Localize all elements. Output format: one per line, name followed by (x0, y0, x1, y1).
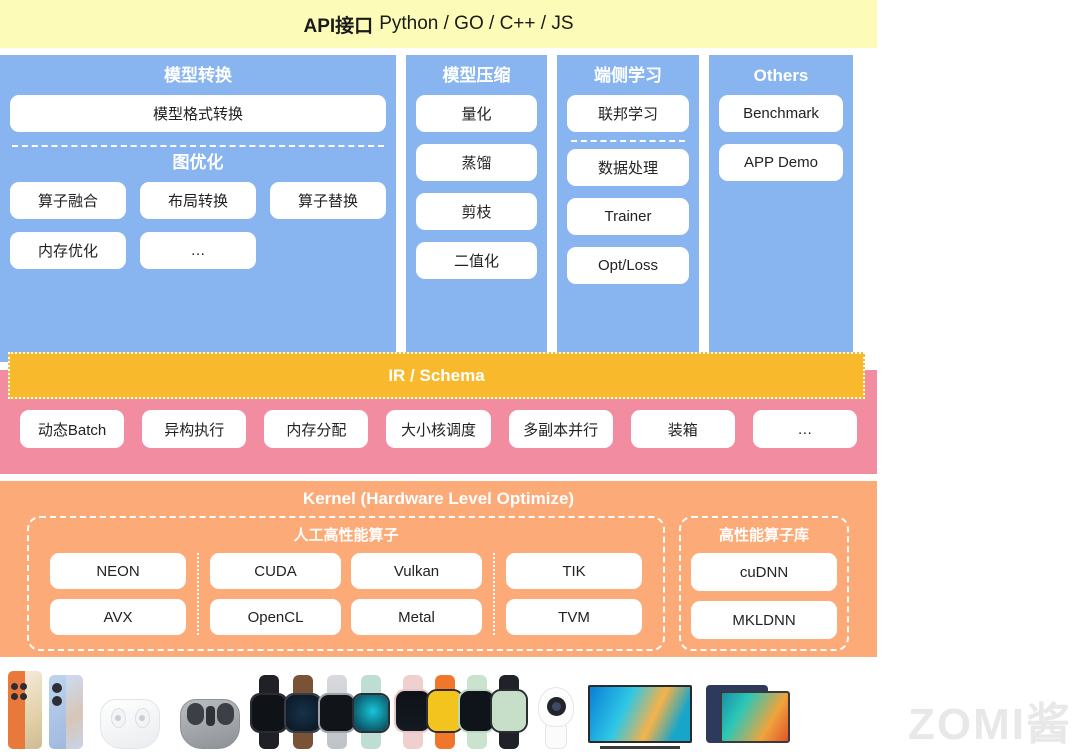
card-trainer[interactable]: Trainer (567, 198, 689, 235)
card-memory-optimize[interactable]: 内存优化 (10, 232, 126, 269)
device-phone-p-blue (49, 675, 83, 749)
high-perf-operator-library-box: 高性能算子库 cuDNN MKLDNN (679, 516, 849, 651)
kernel-group-compiler: TIK TVM (495, 553, 653, 635)
device-smart-tv (588, 685, 692, 749)
card-quantization[interactable]: 量化 (416, 95, 537, 132)
kernel-section: Kernel (Hardware Level Optimize) 人工高性能算子… (0, 481, 877, 657)
device-watch-gt-brown (284, 675, 322, 749)
device-camera-white (538, 687, 574, 749)
column-title-on-device-learning: 端侧学习 (567, 66, 689, 86)
column-model-compression: 模型压缩 量化 蒸馏 剪枝 二值化 (406, 55, 547, 362)
kernel-title: Kernel (Hardware Level Optimize) (0, 489, 877, 509)
card-neon[interactable]: NEON (50, 553, 186, 589)
column-title-model-compression: 模型压缩 (416, 66, 537, 86)
card-benchmark[interactable]: Benchmark (719, 95, 843, 132)
card-metal[interactable]: Metal (351, 599, 482, 635)
column-model-conversion: 模型转换 模型格式转换 图优化 算子融合 布局转换 算子替换 内存优化 … (0, 55, 396, 362)
card-tvm[interactable]: TVM (506, 599, 642, 635)
kernel-operator-groups: NEON AVX CUDA OpenCL Vulkan Metal (39, 553, 653, 635)
api-header-bar: API接口 Python / GO / C++ / JS (0, 0, 877, 48)
device-band-black (490, 675, 528, 749)
card-cudnn[interactable]: cuDNN (691, 553, 837, 591)
card-operator-fusion[interactable]: 算子融合 (10, 182, 126, 219)
card-multi-replica-parallel[interactable]: 多副本并行 (509, 410, 613, 448)
card-opencl[interactable]: OpenCL (210, 599, 341, 635)
column-others: Others Benchmark APP Demo (709, 55, 853, 362)
dashed-divider-on-device (571, 140, 685, 142)
column-title-others: Others (719, 66, 843, 86)
card-vulkan[interactable]: Vulkan (351, 553, 482, 589)
device-watch-gt-teal (352, 675, 390, 749)
card-more-graph-optimize[interactable]: … (140, 232, 256, 269)
api-header-zh-label: API接口 (304, 11, 374, 38)
frontend-blue-section: 模型转换 模型格式转换 图优化 算子融合 布局转换 算子替换 内存优化 … 模型… (0, 55, 877, 362)
card-distillation[interactable]: 蒸馏 (416, 144, 537, 181)
card-operator-replace[interactable]: 算子替换 (270, 182, 386, 219)
card-opt-loss[interactable]: Opt/Loss (567, 247, 689, 284)
card-federated-learning[interactable]: 联邦学习 (567, 95, 689, 132)
card-binarization[interactable]: 二值化 (416, 242, 537, 279)
zomi-watermark: ZOMI酱 (908, 688, 1072, 752)
device-phone-mate-orange (8, 671, 42, 749)
card-more-runtime[interactable]: … (753, 410, 857, 448)
card-cuda[interactable]: CUDA (210, 553, 341, 589)
card-memory-allocation[interactable]: 内存分配 (264, 410, 368, 448)
kernel-subgroup-cuda-opencl: CUDA OpenCL (210, 553, 341, 635)
device-tablet-matepad (706, 685, 794, 749)
device-earbuds-freebuds-dark (180, 699, 240, 749)
card-data-processing[interactable]: 数据处理 (567, 149, 689, 186)
card-tik[interactable]: TIK (506, 553, 642, 589)
manual-high-perf-operator-title: 人工高性能算子 (39, 527, 653, 545)
card-pruning[interactable]: 剪枝 (416, 193, 537, 230)
device-watch-gt-black (250, 675, 288, 749)
kernel-group-arm: NEON AVX (39, 553, 197, 635)
runtime-card-row: 动态Batch 异构执行 内存分配 大小核调度 多副本并行 装箱 … (0, 410, 877, 448)
api-header-languages: Python / GO / C++ / JS (379, 13, 573, 35)
high-perf-operator-library-title: 高性能算子库 (691, 527, 837, 545)
card-app-demo[interactable]: APP Demo (719, 144, 843, 181)
card-mkldnn[interactable]: MKLDNN (691, 601, 837, 639)
library-card-stack: cuDNN MKLDNN (691, 553, 837, 639)
column-on-device-learning: 端侧学习 联邦学习 数据处理 Trainer Opt/Loss (557, 55, 699, 362)
card-layout-conversion[interactable]: 布局转换 (140, 182, 256, 219)
kernel-subgroup-vulkan-metal: Vulkan Metal (351, 553, 482, 635)
card-avx[interactable]: AVX (50, 599, 186, 635)
row2-spacer (270, 232, 386, 269)
kernel-body: 人工高性能算子 NEON AVX CUDA OpenCL Vulkan (0, 516, 877, 651)
card-heterogeneous-exec[interactable]: 异构执行 (142, 410, 246, 448)
graph-optimize-row-2: 内存优化 … (10, 232, 386, 269)
column-title-model-conversion: 模型转换 (10, 66, 386, 86)
subsection-title-graph-optimize: 图优化 (10, 153, 386, 173)
card-dynamic-batch[interactable]: 动态Batch (20, 410, 124, 448)
kernel-group-gpu: CUDA OpenCL Vulkan Metal (199, 553, 493, 635)
device-watch-gt-silver (318, 675, 356, 749)
manual-high-perf-operator-box: 人工高性能算子 NEON AVX CUDA OpenCL Vulkan (27, 516, 665, 651)
card-binpacking[interactable]: 装箱 (631, 410, 735, 448)
device-earbuds-freebuds-white (100, 699, 160, 749)
card-big-little-scheduling[interactable]: 大小核调度 (386, 410, 490, 448)
card-model-format-conversion[interactable]: 模型格式转换 (10, 95, 386, 132)
ir-schema-bar: IR / Schema (8, 352, 865, 399)
dashed-divider-conversion (12, 145, 384, 147)
graph-optimize-row-1: 算子融合 布局转换 算子替换 (10, 182, 386, 219)
